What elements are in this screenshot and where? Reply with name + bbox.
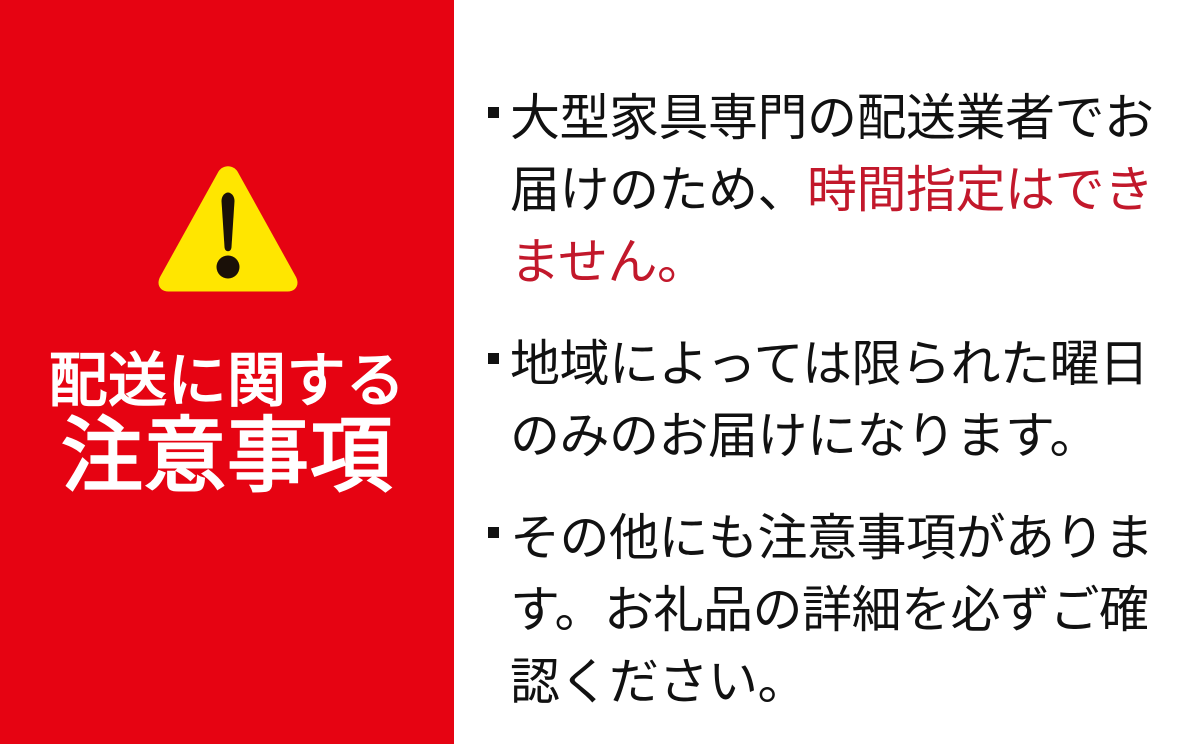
list-item: その他にも注意事項があります。お礼品の詳細を必ずご確認ください。 bbox=[470, 502, 1182, 718]
note-text: 大型家具専門の配送業者でお届けのため、時間指定はできません。 bbox=[510, 82, 1182, 298]
list-item: 地域によっては限られた曜日のみのお届けになります。 bbox=[470, 328, 1182, 472]
page-title: 配送に関する 注意事項 bbox=[0, 348, 454, 500]
delivery-notice-banner: 配送に関する 注意事項 大型家具専門の配送業者でお届けのため、時間指定はできませ… bbox=[0, 0, 1201, 747]
page-title-line-1: 配送に関する bbox=[0, 348, 454, 414]
list-item: 大型家具専門の配送業者でお届けのため、時間指定はできません。 bbox=[470, 82, 1182, 298]
square-bullet-icon bbox=[488, 107, 499, 118]
note-text-plain: 地域によっては限られた曜日のみのお届けになります。 bbox=[510, 336, 1149, 464]
notes-list: 大型家具専門の配送業者でお届けのため、時間指定はできません。 地域によっては限ら… bbox=[470, 82, 1182, 718]
note-text-plain: その他にも注意事項があります。お礼品の詳細を必ずご確認ください。 bbox=[510, 510, 1154, 710]
square-bullet-icon bbox=[488, 353, 499, 364]
warning-triangle-icon bbox=[155, 163, 301, 293]
note-text: 地域によっては限られた曜日のみのお届けになります。 bbox=[510, 328, 1182, 472]
page-title-line-2: 注意事項 bbox=[0, 414, 454, 500]
square-bullet-icon bbox=[488, 527, 499, 538]
left-red-panel: 配送に関する 注意事項 bbox=[0, 0, 454, 744]
note-text: その他にも注意事項があります。お礼品の詳細を必ずご確認ください。 bbox=[510, 502, 1182, 718]
